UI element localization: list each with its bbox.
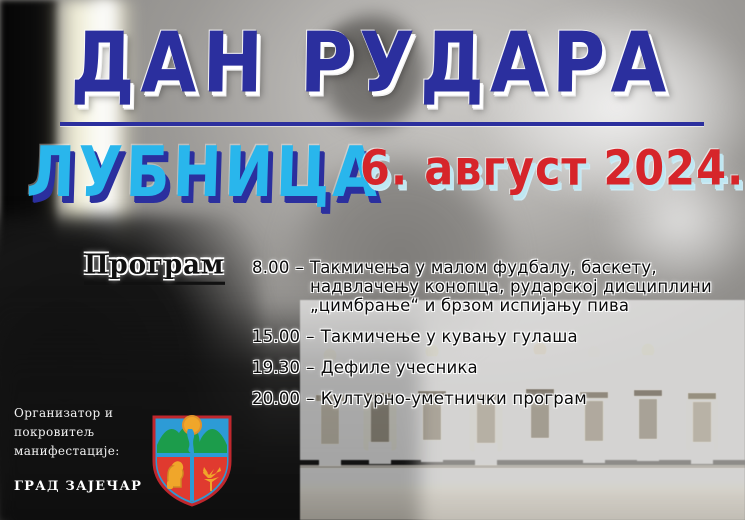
organizer-line-3: манифестације: [14,442,149,461]
program-item-description: Културно-уметнички програм [321,389,732,408]
program-item-time: 8.00 [252,258,296,315]
program-item-line: Културно-уметнички програм [321,389,732,408]
program-item-description: Такмичења у малом фудбалу, баскету,надвл… [310,258,732,315]
program-item-line: Дефиле учесника [321,358,732,377]
program-item-dash: – [296,258,310,315]
program-item-description: Дефиле учесника [321,358,732,377]
program-item-dash: – [306,327,320,346]
program-item-dash: – [306,358,320,377]
program-item-dash: – [306,389,320,408]
photo-stage-floor [300,468,745,520]
program-item-line: Такмичење у кувању гулаша [321,327,732,346]
poster-canvas: ДАН РУДАРА ЛУБНИЦА 6. август 2024. Прогр… [0,0,745,520]
event-date: 6. август 2024. [360,141,744,197]
coat-of-arms-zajecar-icon [148,403,236,507]
program-item-time: 20.00 [252,389,306,408]
program-item-time: 19.30 [252,358,306,377]
organizer-city: ГРАД ЗАЈЕЧАР [14,479,142,494]
program-item: 19.30–Дефиле учесника [252,358,732,377]
title-divider-rule [60,122,704,126]
page-title: ДАН РУДАРА [0,14,745,111]
program-item: 8.00–Такмичења у малом фудбалу, баскету,… [252,258,732,315]
organizer-block: Организатор и покровитељ манифестације: [14,404,149,461]
organizer-line-1: Организатор и [14,404,149,423]
place-title: ЛУБНИЦА [26,131,382,213]
program-item-line: надвлачењу конопца, рударској дисциплини [310,277,732,296]
program-item: 15.00–Такмичење у кувању гулаша [252,327,732,346]
organizer-line-2: покровитељ [14,423,149,442]
program-list: 8.00–Такмичења у малом фудбалу, баскету,… [252,258,732,420]
program-item: 20.00–Културно-уметнички програм [252,389,732,408]
program-item-description: Такмичење у кувању гулаша [321,327,732,346]
program-item-line: Такмичења у малом фудбалу, баскету, [310,258,732,277]
program-item-time: 15.00 [252,327,306,346]
program-item-line: „цимбрање“ и брзом испијању пива [310,296,732,315]
program-heading: Програм [84,249,225,285]
